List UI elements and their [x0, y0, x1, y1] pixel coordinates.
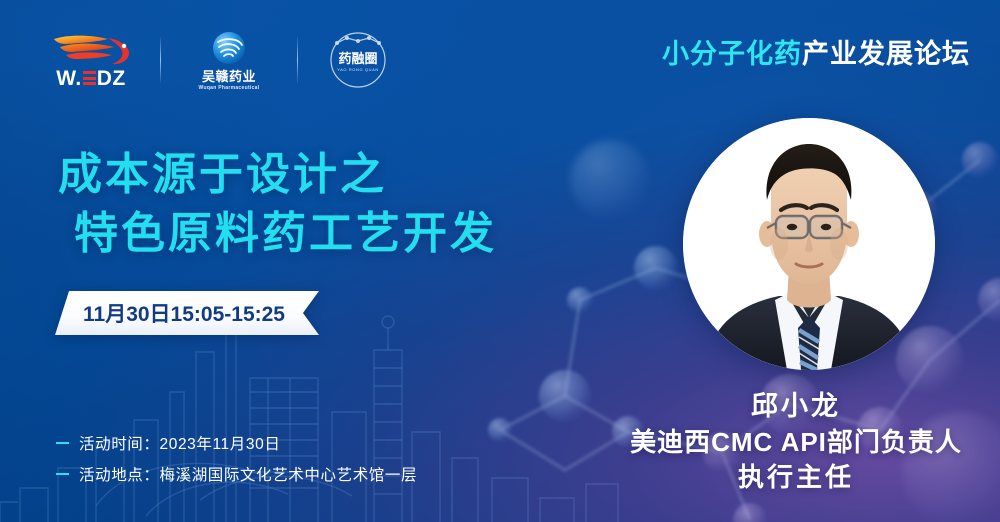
speaker-role: 美迪西CMC API部门负责人 [600, 426, 992, 460]
dash-bullet-icon [56, 442, 69, 445]
logo-wedz-text-1: W. [56, 68, 82, 89]
event-info-row-time: 活动时间：2023年11月30日 [56, 432, 417, 454]
speaker-info: 邱小龙 美迪西CMC API部门负责人 执行主任 [600, 390, 992, 495]
speaker-portrait-illustration [683, 118, 935, 370]
logo-wedz[interactable]: W. DZ [44, 25, 138, 95]
session-time-badge-text: 11月30日15:05-15:25 [55, 291, 319, 335]
logo-wedz-bars-icon [83, 71, 96, 85]
phoenix-flame-icon [50, 32, 132, 66]
logo-wedz-wordmark: W. DZ [56, 68, 126, 89]
event-time-text: 活动时间：2023年11月30日 [79, 432, 280, 454]
speaker-photo [683, 118, 935, 370]
svg-text:YAO RONG QUAN: YAO RONG QUAN [337, 67, 379, 72]
forum-name-highlight: 小分子化药 [662, 39, 802, 69]
globe-wave-icon [209, 29, 249, 69]
logo-separator-2 [297, 37, 298, 83]
logo-separator-1 [160, 37, 161, 83]
logo-wuqan-en-text: Wuqan Pharmaceutical [199, 85, 260, 91]
speaker-name: 邱小龙 [600, 390, 992, 423]
circle-network-icon: 药融圈 YAO RONG QUAN [327, 29, 389, 91]
event-location-text: 活动地点：梅溪湖国际文化艺术中心艺术馆一层 [79, 463, 417, 485]
page-title-line-2: 特色原料药工艺开发 [74, 205, 497, 264]
speaker-title: 执行主任 [600, 461, 992, 495]
event-info-list: 活动时间：2023年11月30日 活动地点：梅溪湖国际文化艺术中心艺术馆一层 [56, 432, 417, 485]
logo-wuqan-cn-text: 吴赣药业 [202, 70, 256, 84]
forum-name-rest: 产业发展论坛 [802, 39, 970, 69]
page-title-line-1: 成本源于设计之 [58, 146, 497, 205]
sponsor-logo-bar: W. DZ [44, 25, 396, 95]
logo-wedz-text-2: DZ [97, 68, 126, 89]
svg-text:药融圈: 药融圈 [338, 51, 377, 66]
dash-bullet-icon [56, 473, 69, 476]
page-title: 成本源于设计之 特色原料药工艺开发 [58, 146, 497, 263]
event-info-row-location: 活动地点：梅溪湖国际文化艺术中心艺术馆一层 [56, 463, 417, 485]
session-time-badge: 11月30日15:05-15:25 [55, 291, 319, 335]
logo-wuqan-pharmaceutical[interactable]: 吴赣药业 Wuqan Pharmaceutical [183, 25, 275, 95]
logo-yaorongyuan[interactable]: 药融圈 YAO RONG QUAN [320, 25, 396, 95]
forum-banner: W. DZ [0, 0, 1000, 522]
forum-name: 小分子化药产业发展论坛 [662, 38, 970, 70]
